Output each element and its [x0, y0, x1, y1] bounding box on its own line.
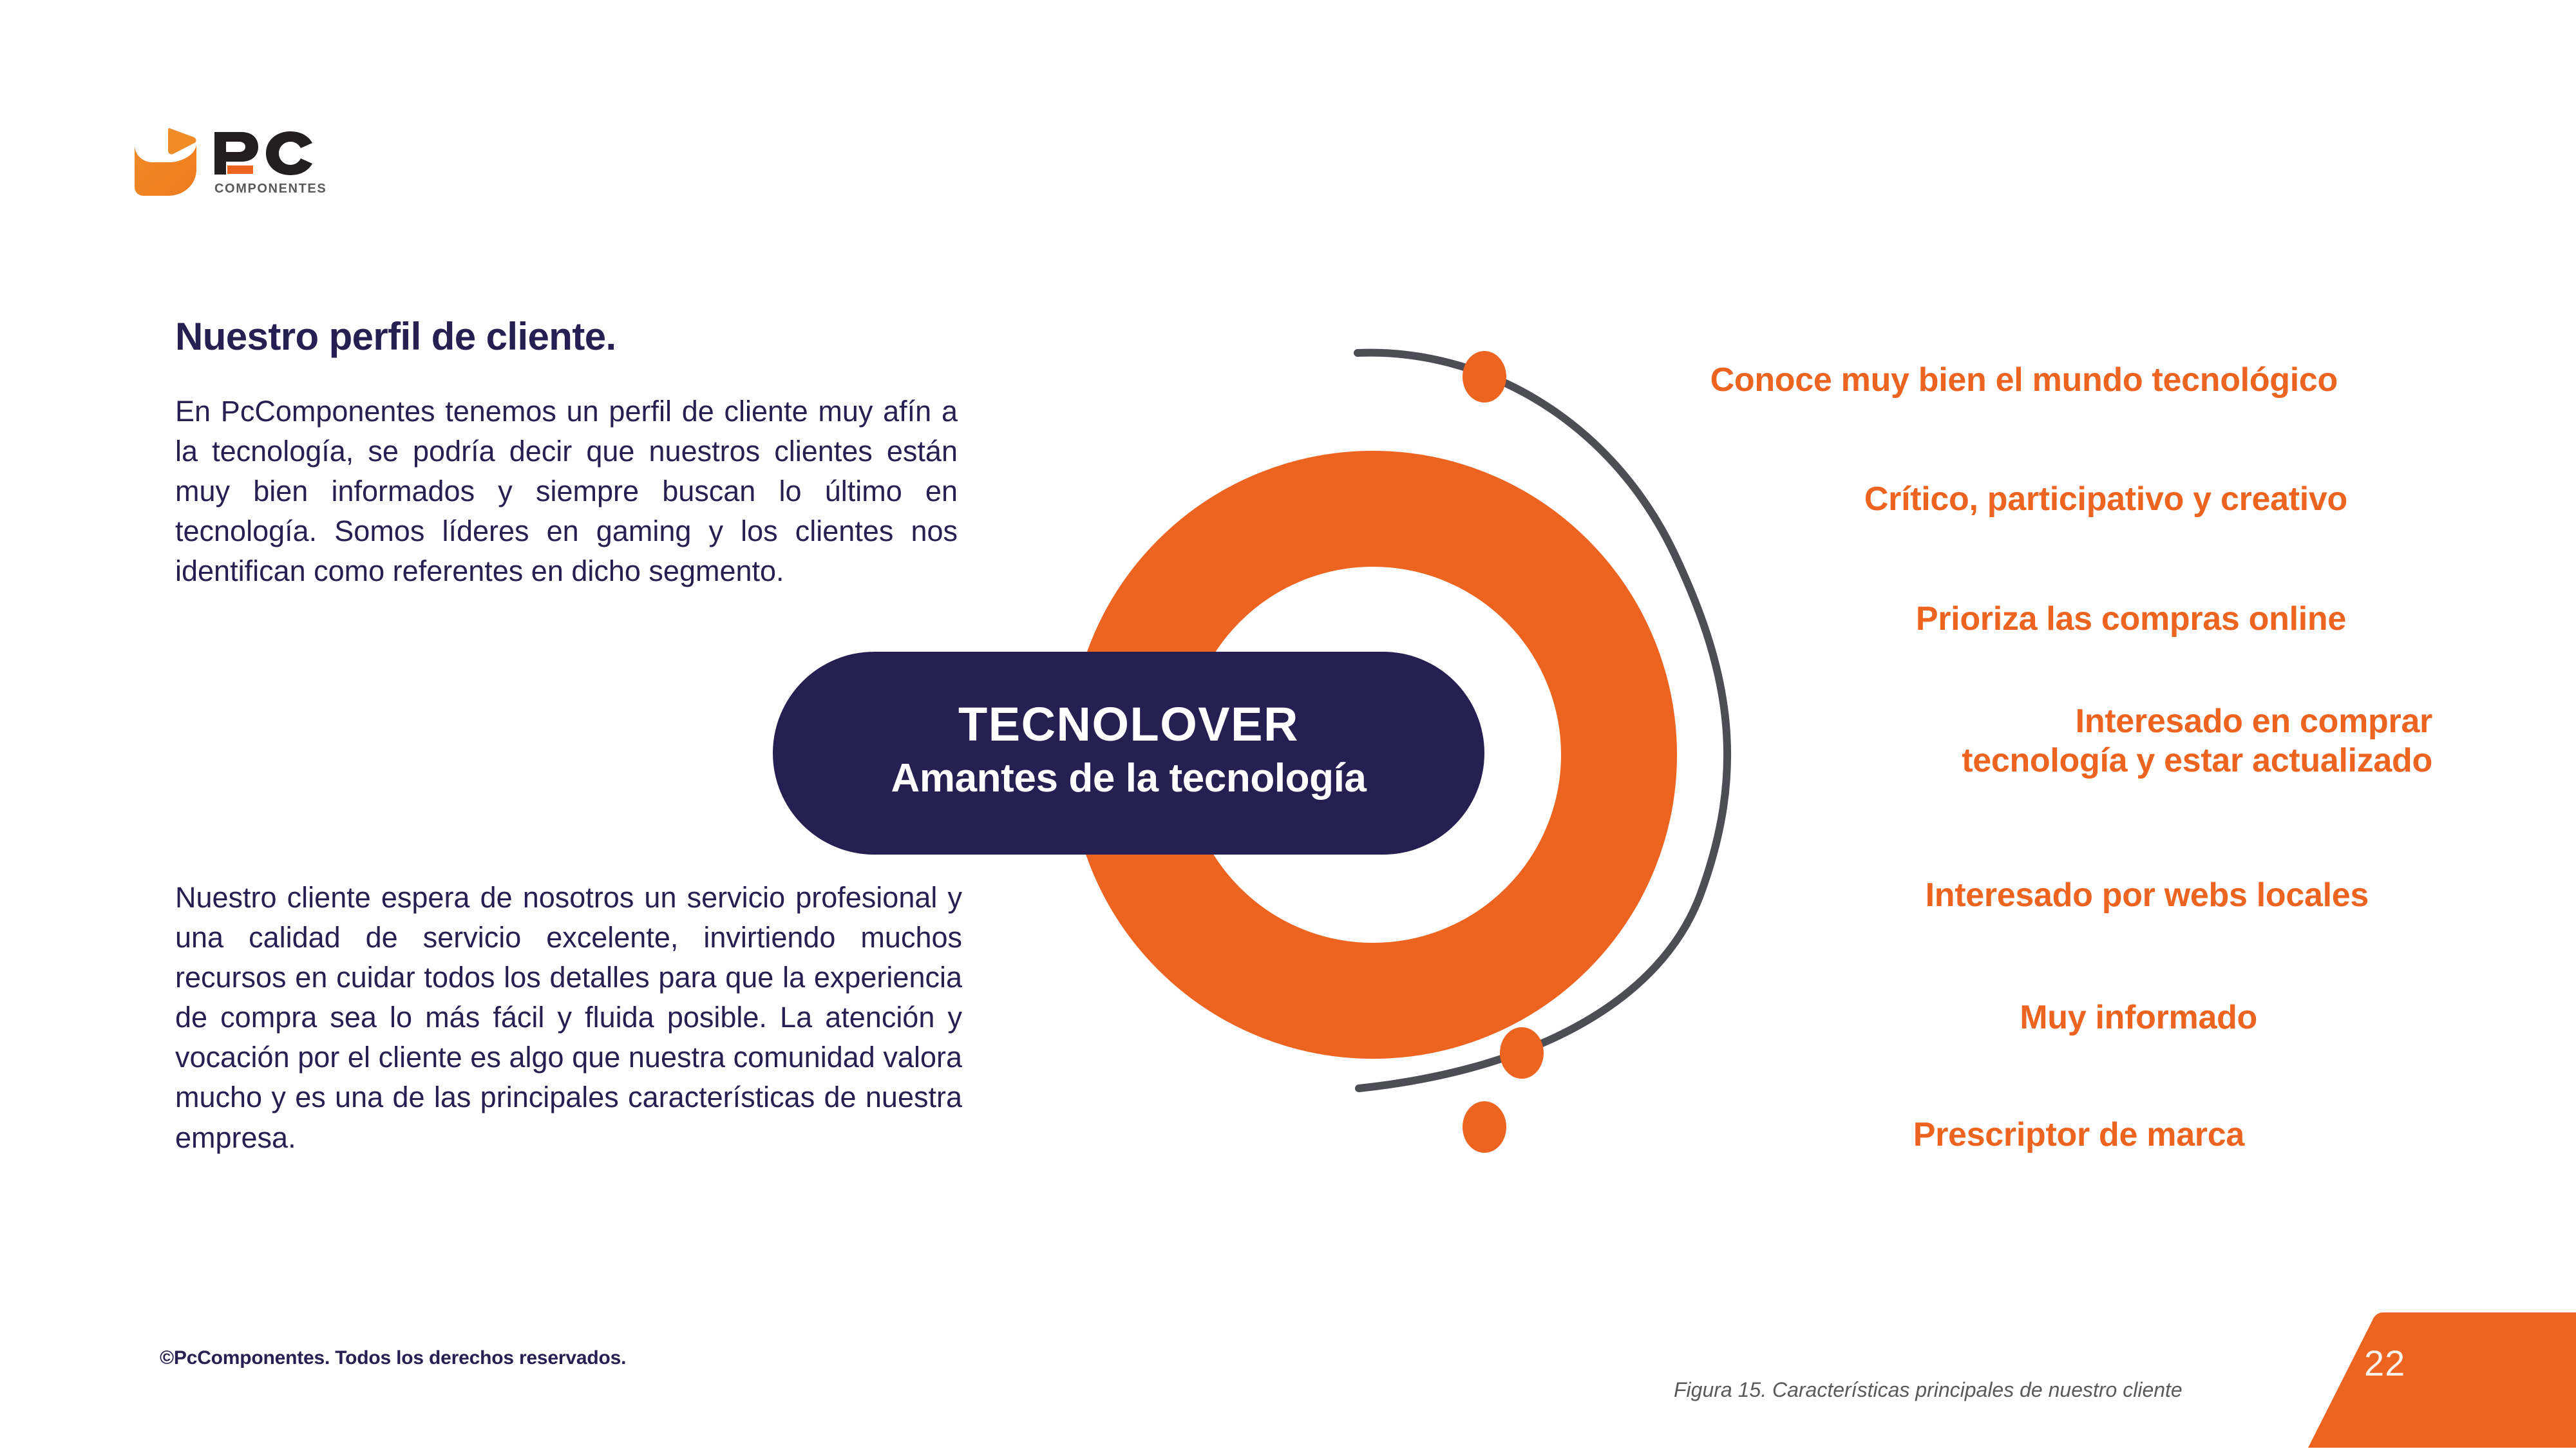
node-dot-7 [1463, 1101, 1506, 1153]
copyright-notice: ©PcComponentes. Todos los derechos reser… [160, 1347, 626, 1369]
feature-label-muy-informado: Muy informado [1546, 998, 2257, 1037]
page-number-badge [2306, 1307, 2576, 1449]
figure-caption: Figura 15. Características principales d… [1674, 1378, 2183, 1402]
node-dot-4 [1567, 782, 1611, 834]
feature-label-critico-participativo-creativo: Crítico, participativo y creativo [1546, 480, 2347, 519]
slide: COMPONENTES Nuestro perfil de cliente. E… [0, 0, 2576, 1449]
feature-label-interesado-en-comprar-tecnologia: Interesado en comprar tecnología y estar… [1546, 702, 2432, 781]
page-number: 22 [2364, 1342, 2405, 1384]
feature-label-prioriza-compras-online: Prioriza las compras online [1546, 600, 2346, 639]
node-dot-1 [1463, 351, 1506, 402]
service-paragraph: Nuestro cliente espera de nosotros un se… [175, 878, 962, 1158]
logo-mark-icon [135, 128, 196, 196]
pccomponentes-logo: COMPONENTES [132, 126, 351, 200]
left-text-column: Nuestro perfil de cliente. En PcComponen… [175, 316, 958, 591]
logo-accent-bar [227, 166, 253, 174]
page-title: Nuestro perfil de cliente. [175, 316, 958, 358]
badge-title: TECNOLOVER [958, 699, 1299, 750]
feature-label-prescriptor-de-marca: Prescriptor de marca [1546, 1115, 2244, 1155]
left-text-column-second: Nuestro cliente espera de nosotros un se… [175, 878, 962, 1158]
tecnolover-badge: TECNOLOVER Amantes de la tecnología [773, 652, 1484, 855]
node-dot-5 [1549, 911, 1593, 963]
logo-subtitle: COMPONENTES [214, 182, 327, 196]
intro-paragraph: En PcComponentes tenemos un perfil de cl… [175, 392, 958, 591]
node-dot-6 [1500, 1027, 1544, 1079]
node-dot-2 [1530, 539, 1574, 591]
feature-label-conoce-mundo-tecnologico: Conoce muy bien el mundo tecnológico [1546, 361, 2338, 400]
badge-subtitle: Amantes de la tecnología [891, 755, 1366, 802]
feature-label-interesado-webs-locales: Interesado por webs locales [1546, 876, 2369, 915]
